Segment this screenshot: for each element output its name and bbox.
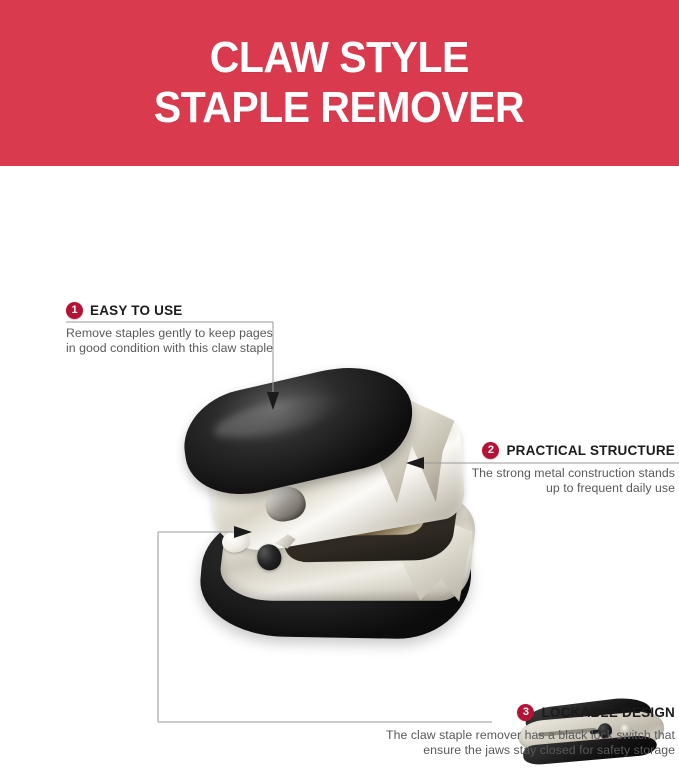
product-image-claw-staple-remover [169, 362, 487, 657]
banner-title-line-2: STAPLE REMOVER [154, 83, 524, 133]
callout-3-body: The claw staple remover has a black lock… [188, 728, 675, 758]
callout-3-heading: 3 LOCKABLE DESIGN [188, 704, 675, 721]
callout-1-body-line-2: in good condition with this claw staple [66, 341, 276, 356]
banner-title-line-1: CLAW STYLE [210, 33, 469, 83]
callout-1-body-line-1: Remove staples gently to keep pages [66, 326, 276, 341]
callout-2-body-line-2: up to frequent daily use [409, 481, 675, 496]
callout-2-body: The strong metal construction stands up … [409, 466, 675, 496]
callout-3-title: LOCKABLE DESIGN [541, 705, 675, 720]
callout-2-heading: 2 PRACTICAL STRUCTURE [409, 442, 675, 459]
callout-practical-structure: 2 PRACTICAL STRUCTURE The strong metal c… [409, 442, 675, 496]
callout-2-badge: 2 [482, 442, 499, 459]
callout-1-title: EASY TO USE [90, 303, 182, 318]
callout-3-badge: 3 [517, 704, 534, 721]
callout-easy-to-use: 1 EASY TO USE Remove staples gently to k… [66, 302, 276, 356]
callout-1-heading: 1 EASY TO USE [66, 302, 276, 319]
callout-1-body: Remove staples gently to keep pages in g… [66, 326, 276, 356]
callout-2-body-line-1: The strong metal construction stands [409, 466, 675, 481]
callout-2-title: PRACTICAL STRUCTURE [506, 443, 675, 458]
callout-1-badge: 1 [66, 302, 83, 319]
callout-3-body-line-2: ensure the jaws stay closed for safety s… [188, 743, 675, 758]
callout-lockable-design: 3 LOCKABLE DESIGN The claw staple remove… [188, 704, 675, 758]
header-banner: CLAW STYLE STAPLE REMOVER [0, 0, 679, 166]
callout-3-body-line-1: The claw staple remover has a black lock… [188, 728, 675, 743]
